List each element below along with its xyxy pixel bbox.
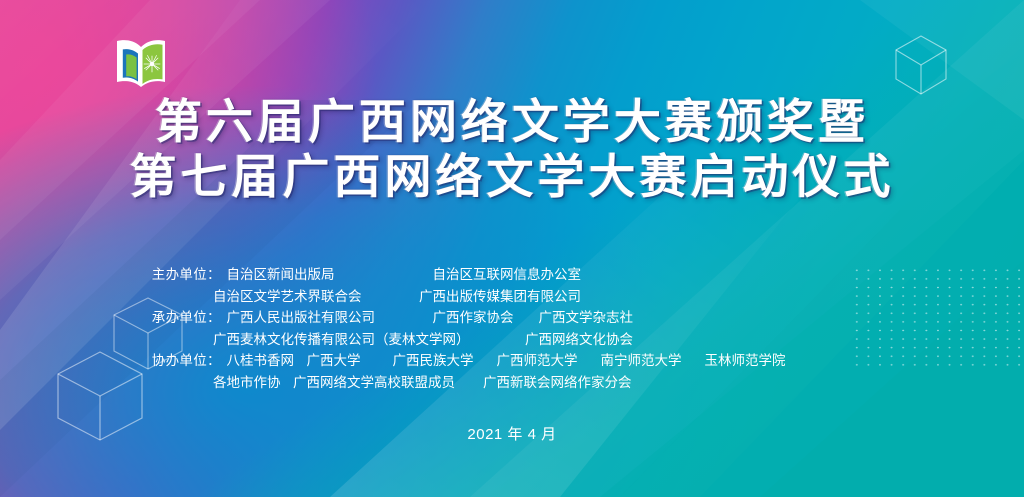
credit-row: 自治区文学艺术界联合会 广西出版传媒集团有限公司 (0, 286, 1024, 308)
credit-items: 八桂书香网 广西大学 广西民族大学 广西师范大学 南宁师范大学 玉林师范学院 (227, 350, 786, 372)
credit-item: 南宁师范大学 (601, 350, 705, 372)
credit-items: 广西麦林文化传播有限公司（麦林文学网） 广西网络文化协会 (213, 329, 633, 351)
title-line-2: 第七届广西网络文学大赛启动仪式 (0, 150, 1024, 205)
credit-item: 广西麦林文化传播有限公司（麦林文学网） (213, 329, 525, 351)
credit-colon: ： (207, 264, 227, 286)
credit-item: 自治区互联网信息办公室 (433, 264, 582, 286)
credit-item: 广西师范大学 (497, 350, 601, 372)
title-line-1: 第六届广西网络文学大赛颁奖暨 (0, 95, 1024, 150)
poster-canvas: 第六届广西网络文学大赛颁奖暨 第七届广西网络文学大赛启动仪式 主办单位 ： 自治… (0, 0, 1024, 497)
credit-label: 协办单位 (129, 350, 207, 372)
credit-item: 广西大学 (307, 350, 393, 372)
credit-item: 八桂书香网 (227, 350, 307, 372)
credit-item: 广西出版传媒集团有限公司 (419, 286, 581, 308)
credit-colon: ： (207, 350, 227, 372)
credit-item: 广西文学杂志社 (539, 307, 634, 329)
credit-label: 承办单位 (129, 307, 207, 329)
credit-item: 玉林师范学院 (705, 350, 786, 372)
page-title: 第六届广西网络文学大赛颁奖暨 第七届广西网络文学大赛启动仪式 (0, 95, 1024, 205)
open-book-logo (112, 38, 170, 90)
credit-item: 各地市作协 (213, 372, 293, 394)
credit-row: 主办单位 ： 自治区新闻出版局 自治区互联网信息办公室 (0, 264, 1024, 286)
credit-items: 各地市作协 广西网络文学高校联盟成员 广西新联会网络作家分会 (213, 372, 632, 394)
credit-label: 主办单位 (129, 264, 207, 286)
credit-row: 广西麦林文化传播有限公司（麦林文学网） 广西网络文化协会 (0, 329, 1024, 351)
credit-items: 广西人民出版社有限公司 广西作家协会 广西文学杂志社 (227, 307, 634, 329)
credit-item: 广西新联会网络作家分会 (483, 372, 632, 394)
credit-item: 自治区新闻出版局 (227, 264, 433, 286)
credit-items: 自治区新闻出版局 自治区互联网信息办公室 (227, 264, 582, 286)
credit-item: 广西人民出版社有限公司 (227, 307, 433, 329)
credit-item: 广西网络文学高校联盟成员 (293, 372, 483, 394)
event-date: 2021 年 4 月 (0, 423, 1024, 444)
credit-item: 广西作家协会 (433, 307, 539, 329)
credit-item: 广西网络文化协会 (525, 329, 633, 351)
credit-colon: ： (207, 307, 227, 329)
credit-row: 各地市作协 广西网络文学高校联盟成员 广西新联会网络作家分会 (0, 372, 1024, 394)
credit-item: 广西民族大学 (393, 350, 497, 372)
credits-block: 主办单位 ： 自治区新闻出版局 自治区互联网信息办公室 自治区文学艺术界联合会 … (0, 264, 1024, 393)
credit-items: 自治区文学艺术界联合会 广西出版传媒集团有限公司 (213, 286, 581, 308)
credit-row: 协办单位 ： 八桂书香网 广西大学 广西民族大学 广西师范大学 南宁师范大学 玉… (0, 350, 1024, 372)
credit-row: 承办单位 ： 广西人民出版社有限公司 广西作家协会 广西文学杂志社 (0, 307, 1024, 329)
credit-item: 自治区文学艺术界联合会 (213, 286, 419, 308)
